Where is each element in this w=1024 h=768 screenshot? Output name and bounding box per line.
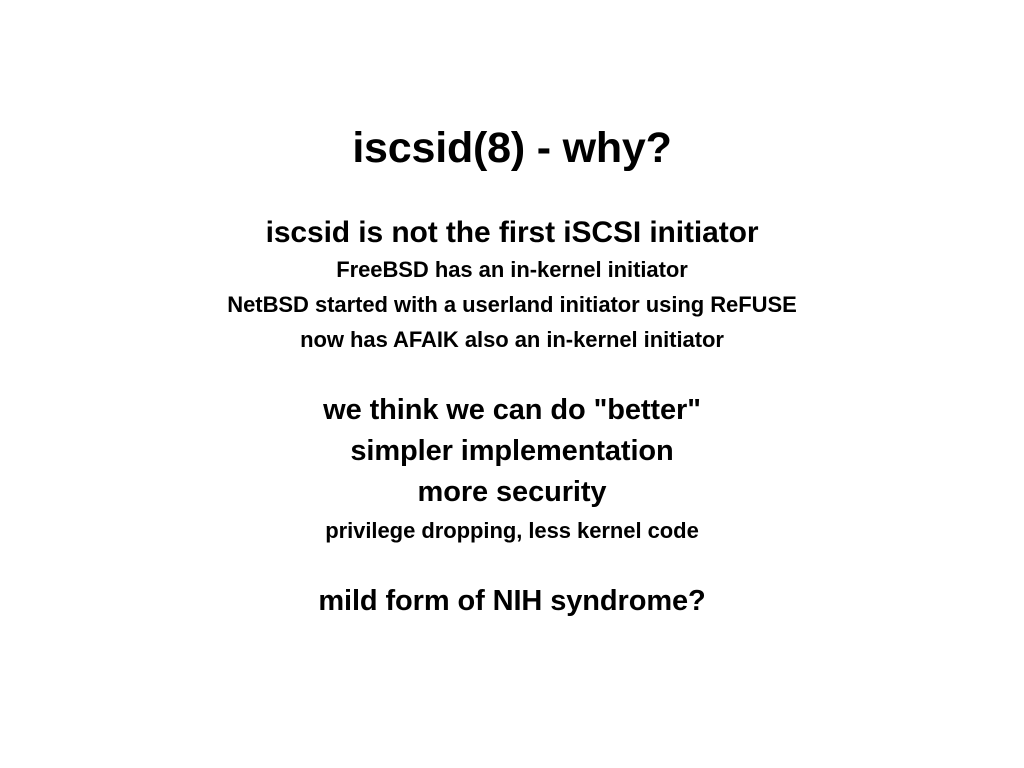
slide-body: iscsid is not the first iSCSI initiator …: [0, 214, 1024, 622]
slide-line: more security: [0, 472, 1024, 513]
slide-line: iscsid is not the first iSCSI initiator: [0, 214, 1024, 252]
block-spacer: [0, 357, 1024, 390]
slide-line: simpler implementation: [0, 431, 1024, 472]
slide-line: NetBSD started with a userland initiator…: [0, 287, 1024, 322]
slide-line: now has AFAIK also an in-kernel initiato…: [0, 322, 1024, 357]
slide-line: mild form of NIH syndrome?: [0, 581, 1024, 622]
page-title: iscsid(8) - why?: [0, 123, 1024, 173]
slide-line: FreeBSD has an in-kernel initiator: [0, 252, 1024, 287]
slide-block-rationale: we think we can do "better" simpler impl…: [0, 390, 1024, 548]
presentation-slide: iscsid(8) - why? iscsid is not the first…: [0, 0, 1024, 768]
slide-line: privilege dropping, less kernel code: [0, 513, 1024, 548]
slide-block-closing-question: mild form of NIH syndrome?: [0, 581, 1024, 622]
slide-line: we think we can do "better": [0, 390, 1024, 431]
block-spacer: [0, 548, 1024, 581]
slide-block-prior-art: iscsid is not the first iSCSI initiator …: [0, 214, 1024, 357]
